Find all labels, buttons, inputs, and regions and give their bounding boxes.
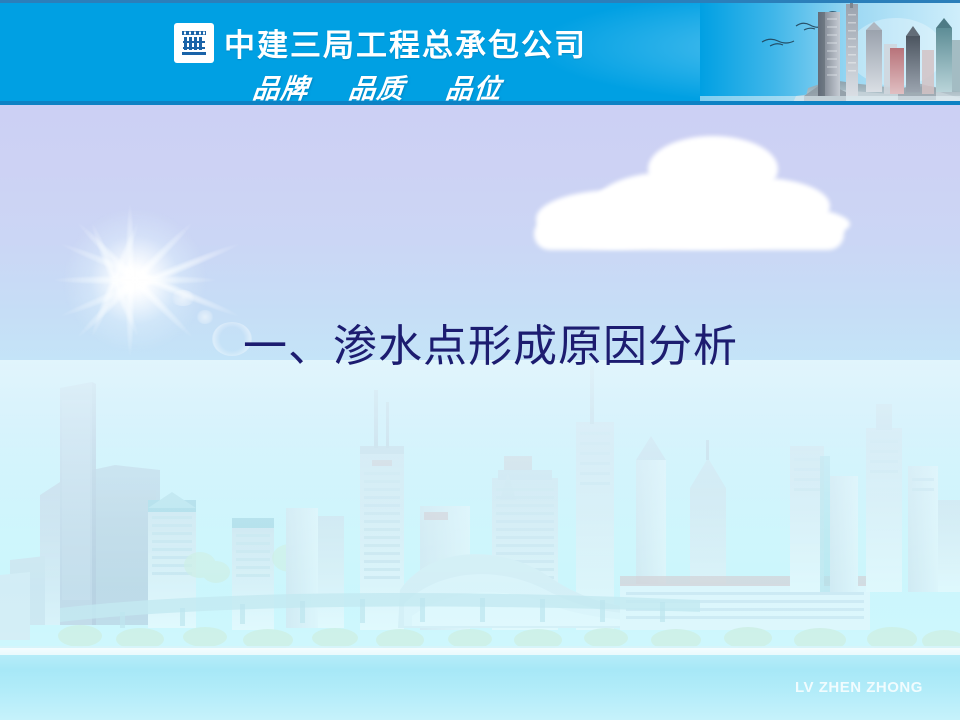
slogan-word-3: 品位 xyxy=(444,67,504,105)
slogan-word-1: 品牌 xyxy=(251,67,311,105)
header-bottom-rule xyxy=(0,101,960,105)
watermark-text: LV ZHEN ZHONG xyxy=(795,679,923,696)
lens-flare-orb-icon xyxy=(196,310,214,324)
cloud-shape xyxy=(648,136,778,202)
company-name: 中建三局工程总承包公司 xyxy=(224,20,587,65)
city-skyline-image xyxy=(0,360,960,670)
page-title: 一、渗水点形成原因分析 xyxy=(243,316,723,378)
cscec-logo-icon xyxy=(174,23,214,63)
header-top-rule xyxy=(0,0,960,3)
company-slogan: 品牌 品质 品位 xyxy=(253,67,502,105)
skyscrapers-photo xyxy=(700,0,960,105)
lens-flare-orb-icon xyxy=(170,290,196,306)
slide-header-bar: 中建三局工程总承包公司 品牌 品质 品位 xyxy=(0,0,960,105)
presentation-slide: 一、渗水点形成原因分析 LV ZHEN ZHONG xyxy=(0,0,960,720)
slogan-word-2: 品质 xyxy=(347,67,407,105)
sun-icon xyxy=(60,205,210,355)
